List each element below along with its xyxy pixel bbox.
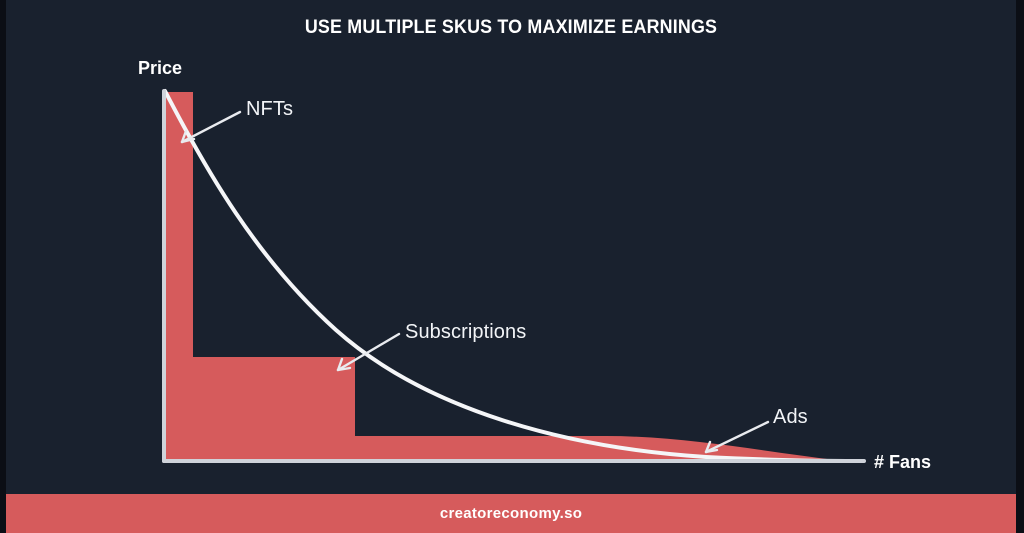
callout-label-subscriptions: Subscriptions xyxy=(405,321,526,344)
callout-label-nfts: NFTs xyxy=(246,98,293,121)
chart-slide: USE MULTIPLE SKUS TO MAXIMIZE EARNINGS P… xyxy=(0,0,1024,533)
x-axis-label: # Fans xyxy=(874,452,931,473)
footer-banner: creatoreconomy.so xyxy=(6,494,1016,533)
sku-step-area xyxy=(165,92,836,461)
y-axis-label: Price xyxy=(138,58,182,79)
footer-website-text: creatoreconomy.so xyxy=(440,505,582,522)
callout-label-ads: Ads xyxy=(773,406,808,429)
